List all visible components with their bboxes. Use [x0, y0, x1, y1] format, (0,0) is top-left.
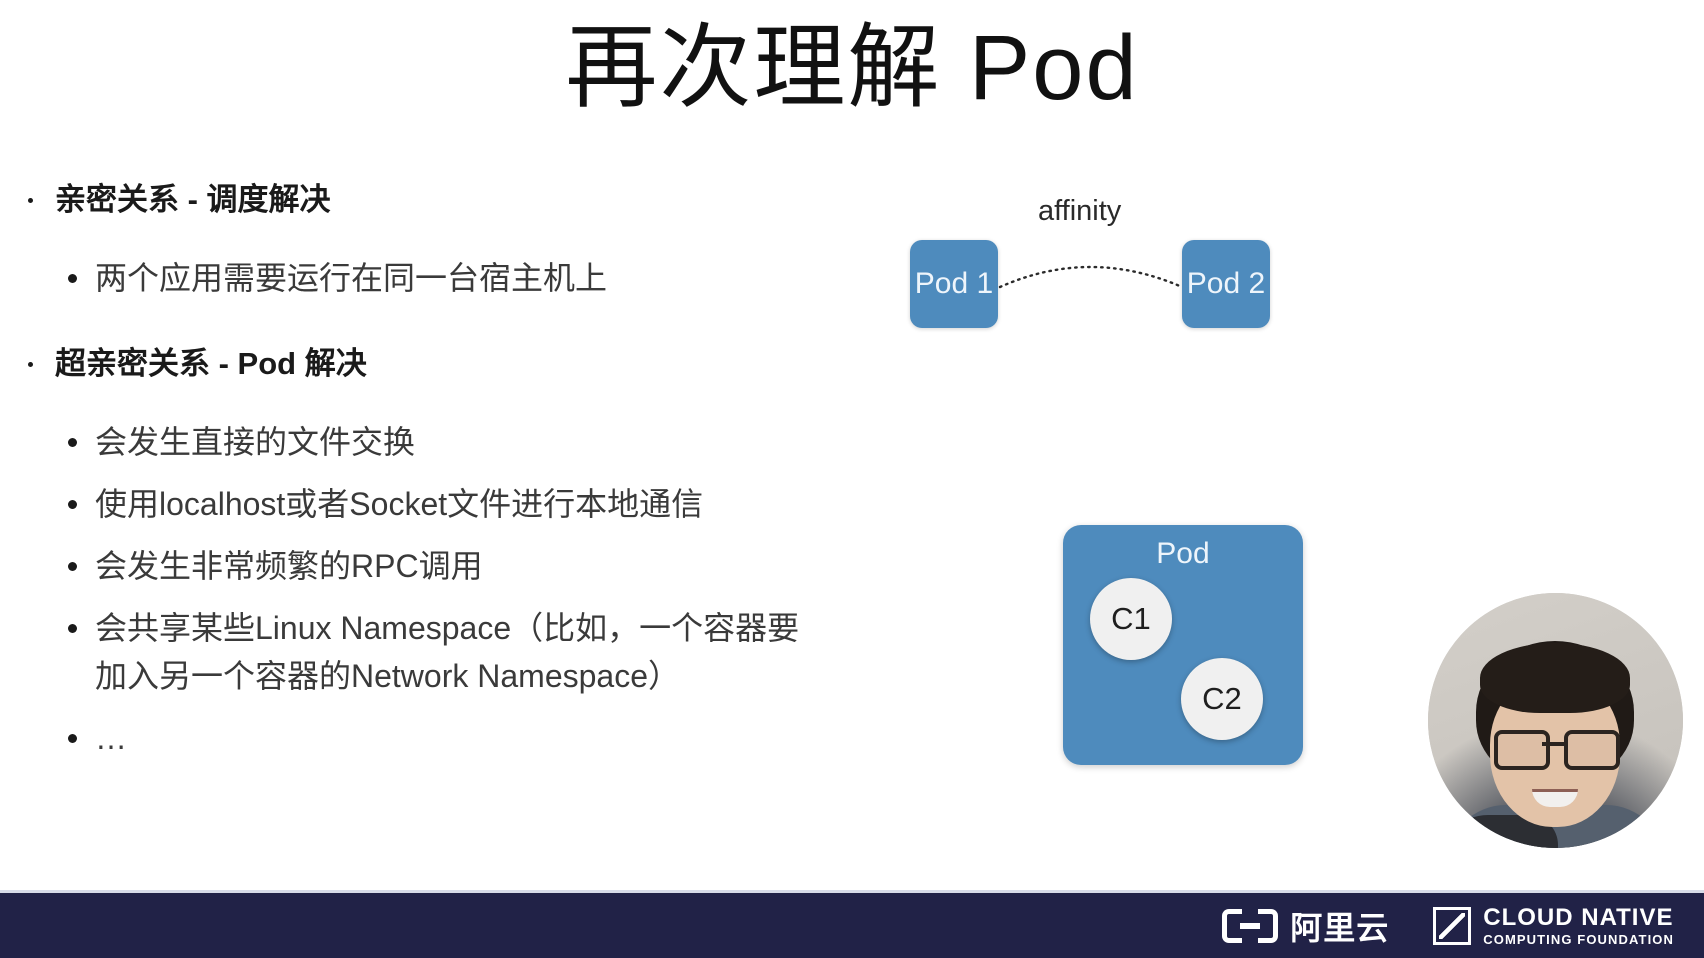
bullet-dot-icon: [68, 500, 77, 509]
bullet-dot-icon: [68, 562, 77, 571]
cncf-subtitle: COMPUTING FOUNDATION: [1483, 933, 1674, 946]
bullet-dot-icon: [28, 198, 33, 203]
bullet-dot-icon: [68, 438, 77, 447]
container-c1-label: C1: [1090, 601, 1172, 637]
glasses-lens-right: [1564, 730, 1620, 770]
presentation-slide: 再次理解 Pod 亲密关系 - 调度解决 两个应用需要运行在同一台宿主机上 超亲…: [0, 0, 1704, 958]
footer-logos: 阿里云 CLOUD NATIVE COMPUTING FOUNDATION: [1222, 893, 1674, 958]
section-heading-2: 超亲密关系 - Pod 解决: [10, 342, 810, 386]
aliyun-logo-text: 阿里云: [1290, 903, 1389, 949]
spacer: [10, 236, 810, 254]
spacer: [10, 316, 810, 342]
list-item-label: …: [95, 720, 127, 756]
list-item-label: 会共享某些Linux Namespace（比如，一个容器要加入另一个容器的Net…: [95, 610, 799, 694]
pod-containers-diagram: Pod C1 C2: [1063, 525, 1303, 765]
aliyun-bracket-right: [1258, 909, 1278, 943]
pod-label: Pod: [1063, 537, 1303, 571]
affinity-label: affinity: [1038, 195, 1121, 228]
section-heading-1: 亲密关系 - 调度解决: [10, 178, 810, 222]
section-heading-label: 亲密关系 - 调度解决: [55, 182, 331, 217]
cncf-title: CLOUD NATIVE: [1483, 906, 1674, 930]
cncf-logo-text: CLOUD NATIVE COMPUTING FOUNDATION: [1483, 906, 1674, 946]
list-item-label: 使用localhost或者Socket文件进行本地通信: [95, 486, 703, 522]
list-item: 会发生直接的文件交换: [10, 418, 810, 466]
list-item: 会发生非常频繁的RPC调用: [10, 542, 810, 590]
webcam-fringe: [1480, 643, 1630, 713]
list-item-label: 会发生直接的文件交换: [95, 424, 415, 460]
sub-list-2: 会发生直接的文件交换 使用localhost或者Socket文件进行本地通信 会…: [10, 418, 810, 762]
bullet-dot-icon: [28, 362, 33, 367]
bullet-dot-icon: [68, 274, 77, 283]
list-item-label: 两个应用需要运行在同一台宿主机上: [95, 260, 607, 296]
aliyun-bar: [1240, 923, 1260, 929]
aliyun-logo: 阿里云: [1222, 903, 1389, 949]
footer-bar: 阿里云 CLOUD NATIVE COMPUTING FOUNDATION: [0, 890, 1704, 958]
bullet-dot-icon: [68, 734, 77, 743]
page-title: 再次理解 Pod: [0, 8, 1704, 128]
affinity-diagram: affinity Pod 1 Pod 2: [890, 195, 1310, 355]
container-c1: C1: [1090, 578, 1172, 660]
presenter-webcam-avatar: [1428, 593, 1683, 848]
cncf-mark-icon: [1433, 907, 1471, 945]
pod-2-box: Pod 2: [1182, 240, 1270, 328]
list-item: 使用localhost或者Socket文件进行本地通信: [10, 480, 810, 528]
list-item: …: [10, 714, 810, 762]
list-item: 会共享某些Linux Namespace（比如，一个容器要加入另一个容器的Net…: [10, 604, 810, 700]
list-item-label: 会发生非常频繁的RPC调用: [95, 548, 483, 584]
section-heading-label: 超亲密关系 - Pod 解决: [55, 346, 367, 381]
bullet-dot-icon: [68, 624, 77, 633]
slide-content-list: 亲密关系 - 调度解决 两个应用需要运行在同一台宿主机上 超亲密关系 - Pod…: [10, 178, 810, 776]
aliyun-bracket-left: [1222, 909, 1242, 943]
sub-list-1: 两个应用需要运行在同一台宿主机上: [10, 254, 810, 302]
pod-1-box: Pod 1: [910, 240, 998, 328]
cncf-logo: CLOUD NATIVE COMPUTING FOUNDATION: [1433, 906, 1674, 946]
pod-2-label: Pod 2: [1182, 267, 1270, 301]
aliyun-mark-icon: [1222, 909, 1278, 943]
glasses-icon: [1494, 730, 1616, 764]
list-item: 两个应用需要运行在同一台宿主机上: [10, 254, 810, 302]
glasses-bridge: [1542, 742, 1564, 746]
container-c2-label: C2: [1181, 681, 1263, 717]
container-c2: C2: [1181, 658, 1263, 740]
glasses-lens-left: [1494, 730, 1550, 770]
pod-1-label: Pod 1: [910, 267, 998, 301]
spacer: [10, 400, 810, 418]
